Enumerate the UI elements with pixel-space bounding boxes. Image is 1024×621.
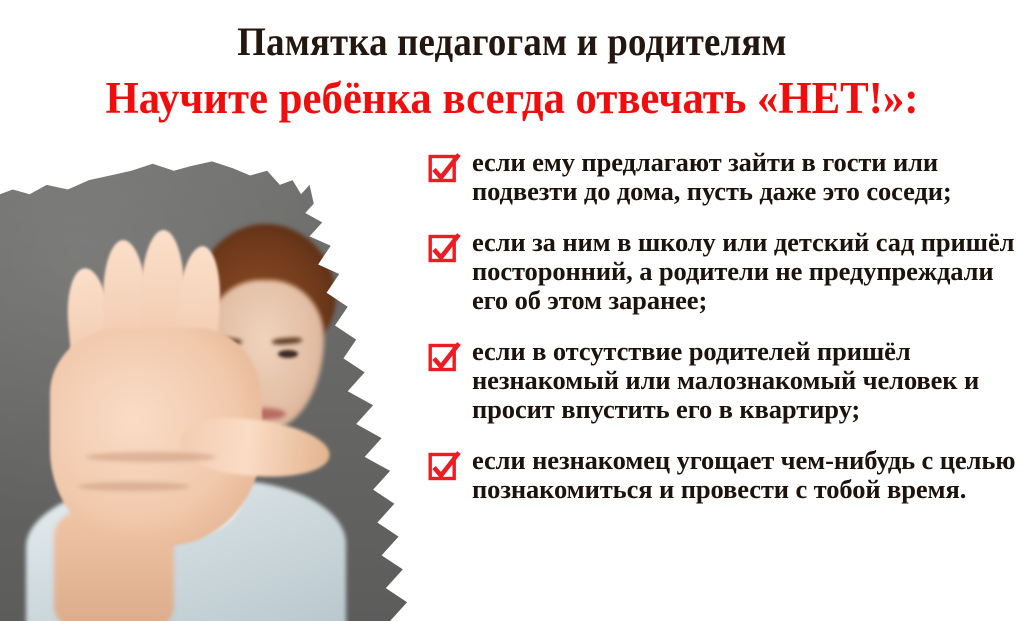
list-item-label: если ему предлагают зайти в гости или по… — [472, 148, 1024, 206]
poster-root: Памятка педагогам и родителям Научите ре… — [0, 0, 1024, 621]
list-item: если в отсутствие родителей пришёл незна… — [424, 337, 1024, 424]
checkbox-checked-icon — [428, 451, 458, 481]
list-item-label: если незнакомец угощает чем-нибудь с цел… — [472, 446, 1024, 504]
list-item: если ему предлагают зайти в гости или по… — [424, 148, 1024, 206]
boy-eye-right — [278, 350, 298, 358]
photo-gray-backdrop — [0, 152, 424, 621]
list-item: если незнакомец угощает чем-нибудь с цел… — [424, 446, 1024, 504]
list-item-label: если в отсутствие родителей пришёл незна… — [472, 337, 1024, 424]
checkbox-checked-icon — [428, 342, 458, 372]
title-block: Памятка педагогам и родителям Научите ре… — [0, 0, 1024, 124]
boy-stop-gesture-photo — [0, 152, 424, 621]
list-item-label: если за ним в школу или детский сад приш… — [472, 228, 1024, 315]
checkbox-checked-icon — [428, 153, 458, 183]
page-subtitle: Научите ребёнка всегда отвечать «НЕТ!»: — [26, 66, 999, 124]
advice-checklist: если ему предлагают зайти в гости или по… — [424, 148, 1024, 504]
page-title: Памятка педагогам и родителям — [41, 0, 983, 66]
palm-crease-upper — [86, 452, 216, 462]
palm-crease-lower — [78, 482, 190, 491]
list-item: если за ним в школу или детский сад приш… — [424, 228, 1024, 315]
checkbox-checked-icon — [428, 233, 458, 263]
